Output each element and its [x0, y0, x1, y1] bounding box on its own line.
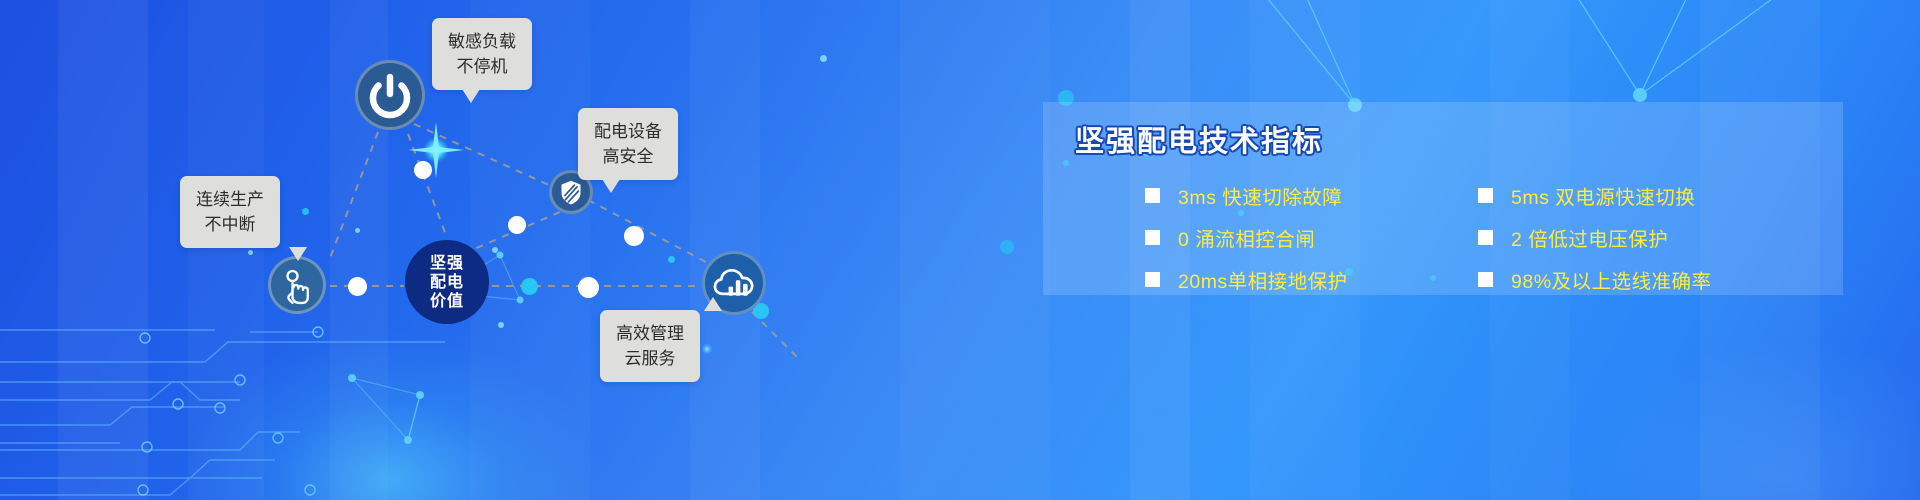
specs-column-right: 5ms 双电源快速切换 2 倍低过电压保护 98%及以上选线准确率 [1478, 174, 1712, 300]
spec-text: 0 涌流相控合闸 [1178, 223, 1315, 252]
node-power[interactable] [355, 60, 425, 130]
specs-title: 坚强配电技术指标 [1075, 118, 1323, 160]
node-center-value[interactable]: 坚强 配电 价值 [405, 240, 489, 324]
bullet-square-icon [1145, 188, 1160, 203]
spec-item: 98%及以上选线准确率 [1478, 258, 1712, 300]
particle-dot [1000, 240, 1014, 254]
spec-item: 5ms 双电源快速切换 [1478, 174, 1712, 216]
connector-dot [348, 277, 367, 296]
tooltip-line: 高效管理 [616, 321, 684, 346]
particle-dot [355, 228, 360, 233]
tooltip-line: 连续生产 [196, 187, 264, 212]
bullet-square-icon [1145, 230, 1160, 245]
particle-dot [248, 250, 253, 255]
spec-text: 98%及以上选线准确率 [1511, 265, 1712, 294]
tooltip-line: 敏感负载 [448, 29, 516, 54]
spec-text: 20ms单相接地保护 [1178, 265, 1348, 294]
specs-column-left: 3ms 快速切除故障 0 涌流相控合闸 20ms单相接地保护 [1145, 174, 1348, 300]
tooltip-line: 高安全 [594, 144, 662, 169]
connector-dot [508, 216, 526, 234]
connector-dot [578, 277, 599, 298]
spec-text: 5ms 双电源快速切换 [1511, 181, 1695, 210]
promo-banner: 坚强 配电 价值 敏感负载 不停机 配电设备 高安全 连续生产 不中断 高效管理… [0, 0, 1920, 500]
tooltip-line: 配电设备 [594, 119, 662, 144]
spec-item: 2 倍低过电压保护 [1478, 216, 1712, 258]
center-label-line: 配电 [430, 273, 464, 292]
spec-text: 2 倍低过电压保护 [1511, 223, 1668, 252]
spec-text: 3ms 快速切除故障 [1178, 181, 1342, 210]
particle-dot [820, 55, 827, 62]
spec-item: 3ms 快速切除故障 [1145, 174, 1348, 216]
connector-dot-cyan [521, 278, 538, 295]
particle-dot [302, 208, 309, 215]
center-label-line: 价值 [430, 292, 464, 311]
connector-dot [414, 161, 432, 179]
tooltip-equipment-safety: 配电设备 高安全 [578, 108, 678, 180]
bullet-square-icon [1145, 272, 1160, 287]
bullet-square-icon [1478, 188, 1493, 203]
connector-dot [624, 226, 644, 246]
tooltip-sensitive-load: 敏感负载 不停机 [432, 18, 532, 90]
bullet-square-icon [1478, 230, 1493, 245]
center-label-line: 坚强 [430, 254, 464, 273]
tooltip-continuous-production: 连续生产 不中断 [180, 176, 280, 248]
spec-item: 20ms单相接地保护 [1145, 258, 1348, 300]
tooltip-line: 云服务 [616, 346, 684, 371]
tooltip-line: 不停机 [448, 54, 516, 79]
bullet-square-icon [1478, 272, 1493, 287]
tooltip-cloud-management: 高效管理 云服务 [600, 310, 700, 382]
hand-touch-icon [271, 259, 323, 311]
node-touch[interactable] [268, 256, 326, 314]
tooltip-line: 不中断 [196, 212, 264, 237]
spec-item: 0 涌流相控合闸 [1145, 216, 1348, 258]
power-icon [358, 63, 422, 127]
particle-dot [498, 322, 504, 328]
particle-dot [668, 256, 675, 263]
particle-dot [492, 247, 498, 253]
